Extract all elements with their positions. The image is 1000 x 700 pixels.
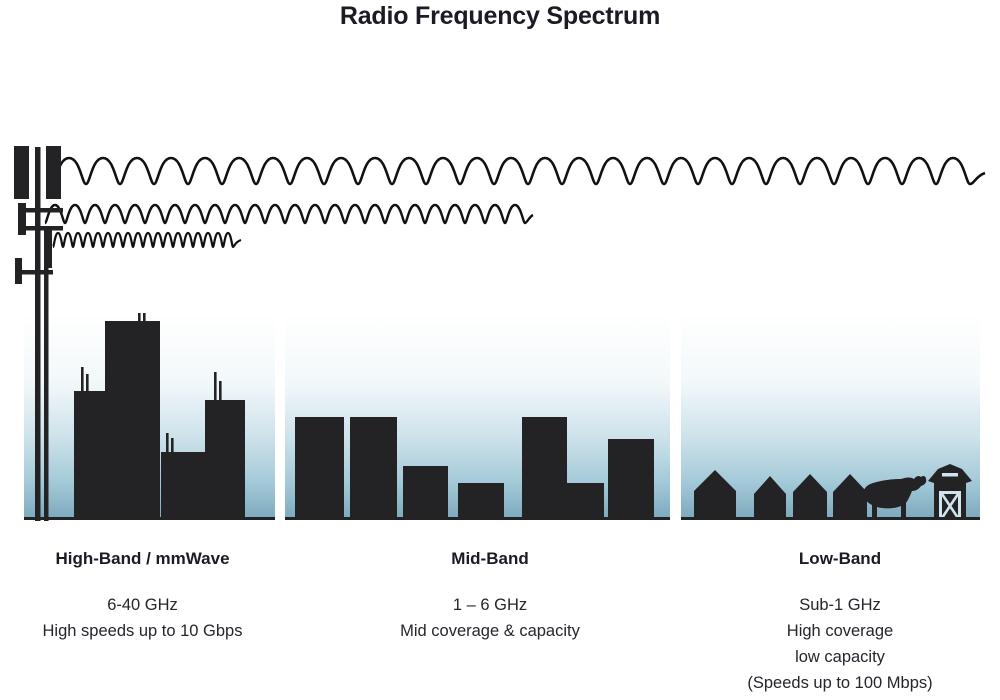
band-low-band-line-1: High coverage xyxy=(690,618,990,644)
skyscraper-spire-3a xyxy=(166,433,169,453)
skyscraper-spire-2a xyxy=(138,294,141,322)
band-high-band-line-1: High speeds up to 10 Gbps xyxy=(0,618,285,644)
ground-line-high-band xyxy=(24,517,275,522)
band-label-high-band: High-Band / mmWave xyxy=(0,549,285,569)
band-mid-band-line-1: Mid coverage & capacity xyxy=(340,618,640,644)
band-low-band-line-3: (Speeds up to 100 Mbps) xyxy=(690,670,990,696)
midrise-building-4 xyxy=(458,483,504,521)
wave-high-band xyxy=(52,158,985,184)
skyscraper-spire-2b xyxy=(143,303,146,322)
ground-line-low-band xyxy=(681,517,980,522)
radio-waves xyxy=(45,158,985,247)
tower-crossbar-middle xyxy=(25,226,63,231)
midrise-building-7 xyxy=(608,439,654,521)
ground-line-mid-band xyxy=(285,517,670,522)
tower-mast xyxy=(35,147,41,521)
tower-antenna-panel-right-upper xyxy=(46,146,61,199)
midrise-building-1 xyxy=(295,417,344,521)
skyscraper-spire-4b xyxy=(219,381,222,401)
midrise-building-6 xyxy=(567,483,604,521)
midrise-building-3 xyxy=(403,466,448,521)
midrise-building-2 xyxy=(350,417,397,521)
band-low-band-line-0: Sub-1 GHz xyxy=(690,592,990,618)
band-mid-band-line-0: 1 – 6 GHz xyxy=(340,592,640,618)
band-label-mid-band: Mid-Band xyxy=(340,549,640,569)
tower-crossbar-upper xyxy=(25,208,63,213)
tower-antenna-panel-left-mid xyxy=(18,203,26,235)
tower-antenna-panel-left-upper xyxy=(14,146,29,199)
skyscraper-spire-1a xyxy=(81,367,84,392)
skyscraper-spire-1b xyxy=(86,374,89,393)
skyscraper-spire-4a xyxy=(214,372,217,401)
midrise-building-5 xyxy=(522,417,567,521)
band-label-low-band: Low-Band xyxy=(690,549,990,569)
skyscraper-4 xyxy=(205,400,245,521)
tower-crossbar-lower xyxy=(19,270,53,275)
skyscraper-spire-3b xyxy=(171,438,174,453)
tower-antenna-panel-right-mid xyxy=(44,228,52,268)
wave-low-band xyxy=(53,233,241,247)
band-high-band-line-0: 6-40 GHz xyxy=(0,592,285,618)
band-description-mid-band: 1 – 6 GHz Mid coverage & capacity xyxy=(340,592,640,644)
page-title: Radio Frequency Spectrum xyxy=(0,2,1000,31)
skyscraper-3 xyxy=(161,452,205,521)
wave-mid-band xyxy=(45,205,533,223)
tower-mast-secondary xyxy=(44,255,49,521)
band-description-high-band: 6-40 GHz High speeds up to 10 Gbps xyxy=(0,592,285,644)
barn-loft-window xyxy=(942,473,958,477)
band-low-band-line-2: low capacity xyxy=(690,644,990,670)
band-description-low-band: Sub-1 GHz High coverage low capacity (Sp… xyxy=(690,592,990,696)
skyscraper-2 xyxy=(105,321,160,521)
skyscraper-1 xyxy=(74,391,105,521)
